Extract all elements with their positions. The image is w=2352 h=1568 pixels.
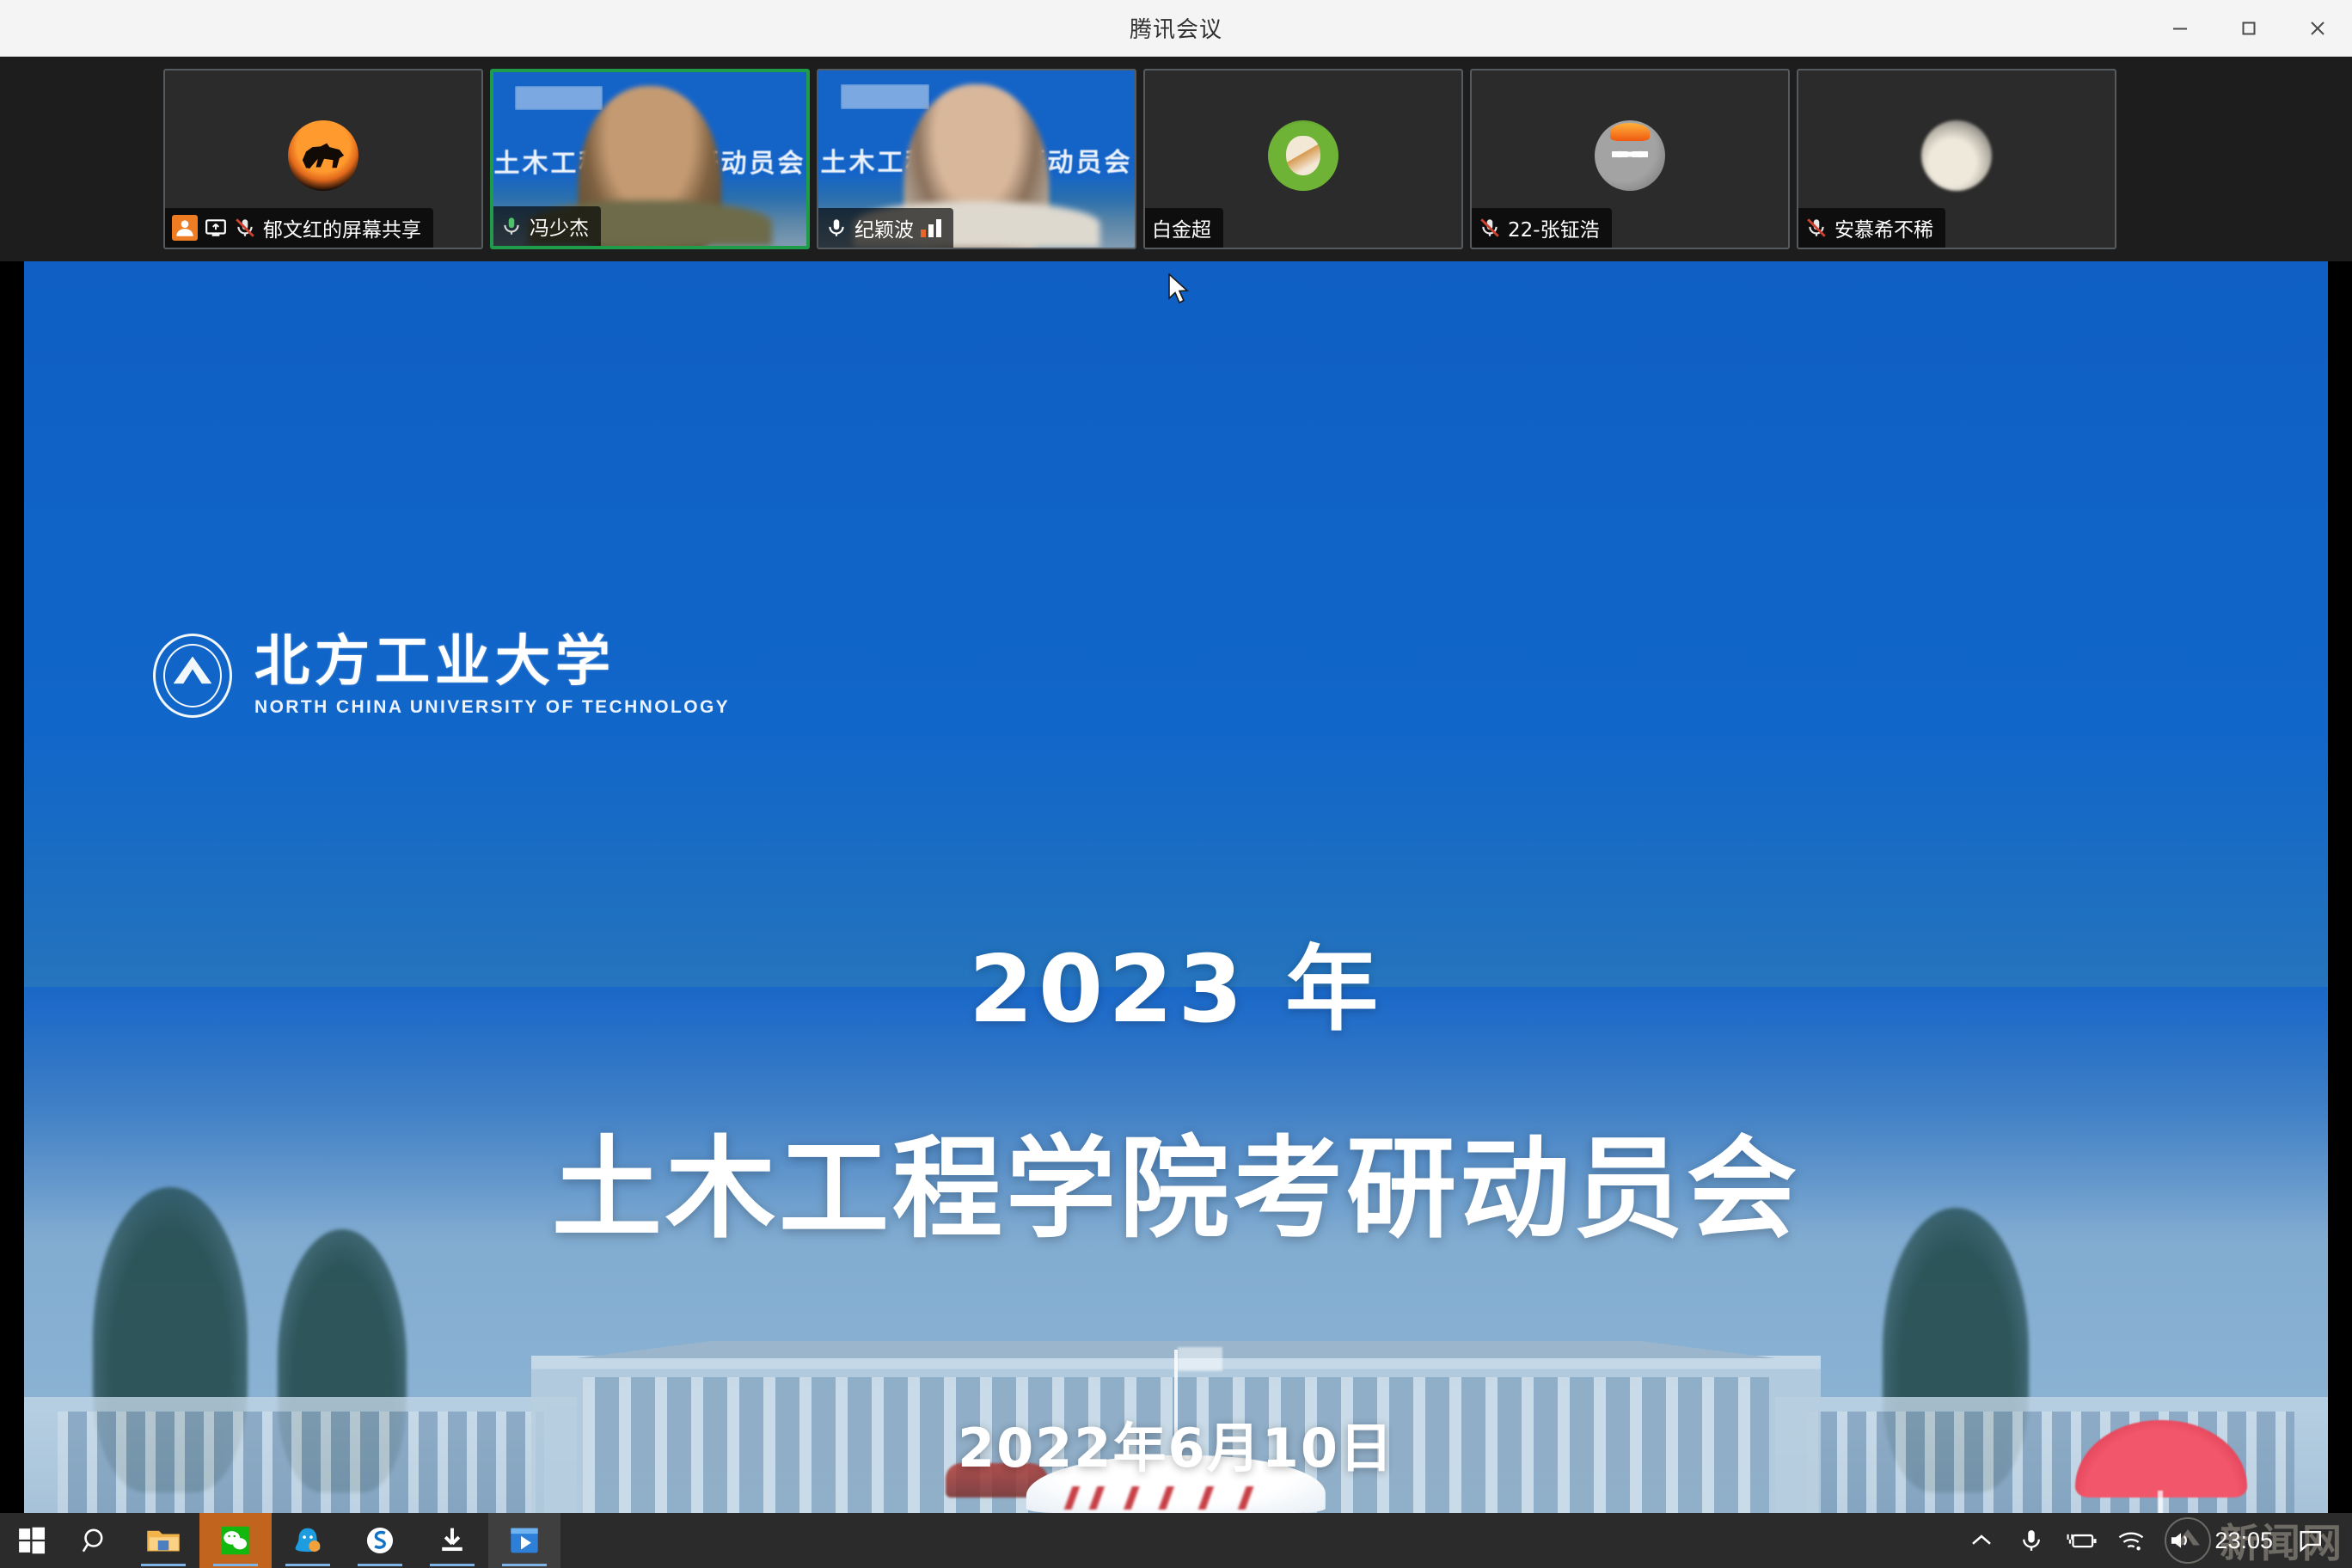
taskbar-items <box>0 1513 560 1568</box>
slide-title: 土木工程学院考研动员会 <box>24 1099 2328 1259</box>
participant-name: 22-张钲浩 <box>1508 213 1600 242</box>
corgi-dog-avatar <box>1268 120 1338 191</box>
microphone-muted-icon <box>1805 217 1828 239</box>
participant-filmstrip[interactable]: 郁文红的屏幕共享 土木工程学院考研动员会 冯少杰 <box>0 57 2352 261</box>
screen: 腾讯会议 <box>0 0 2352 1568</box>
participant-name: 郁文红的屏幕共享 <box>263 213 421 242</box>
network-signal-icon <box>921 218 941 237</box>
media-player-button[interactable] <box>488 1513 560 1568</box>
slide-date: 2022年6月10日 <box>24 1405 2328 1482</box>
battery-charging-icon[interactable] <box>2056 1513 2106 1568</box>
tile-label: 22-张钲浩 <box>1472 208 1612 248</box>
tile-label: 安慕希不稀 <box>1798 208 1945 248</box>
letterbox-left <box>0 261 24 1513</box>
system-tray: 23:05 <box>1957 1513 2352 1568</box>
clock[interactable]: 23:05 <box>2206 1528 2287 1554</box>
download-manager-button[interactable] <box>416 1513 488 1568</box>
university-logo: 北方工业大学 NORTH CHINA UNIVERSITY OF TECHNOL… <box>153 633 730 718</box>
participant-tile-avatar[interactable]: 安慕希不稀 <box>1797 69 2116 249</box>
close-button[interactable] <box>2283 0 2352 57</box>
qq-button[interactable] <box>272 1513 344 1568</box>
participant-name: 冯少杰 <box>530 211 589 241</box>
sogou-button[interactable] <box>344 1513 416 1568</box>
wechat-button[interactable] <box>199 1513 272 1568</box>
window-title: 腾讯会议 <box>1130 12 1222 44</box>
shared-screen-area[interactable]: 北方工业大学 NORTH CHINA UNIVERSITY OF TECHNOL… <box>24 261 2328 1513</box>
tile-label: 冯少杰 <box>493 206 601 246</box>
letterbox-right <box>2328 261 2352 1513</box>
window-titlebar: 腾讯会议 <box>0 0 2352 57</box>
microphone-icon <box>825 217 848 239</box>
notification-icon[interactable] <box>2287 1513 2337 1568</box>
photo-avatar <box>1921 120 1992 191</box>
tile-label: 郁文红的屏幕共享 <box>165 208 433 248</box>
microphone-icon[interactable] <box>2006 1513 2056 1568</box>
microphone-muted-icon <box>1479 217 1501 239</box>
slide-logo-blur <box>841 84 929 109</box>
windows-taskbar[interactable]: 23:05 新闻网 <box>0 1513 2352 1568</box>
participant-name: 纪颖波 <box>854 213 914 242</box>
window-controls <box>2146 0 2352 57</box>
wifi-icon[interactable] <box>2106 1513 2156 1568</box>
participant-tile-active-speaker[interactable]: 土木工程学院考研动员会 冯少杰 <box>490 69 810 249</box>
tile-label: 白金超 <box>1145 208 1223 248</box>
university-name-en: NORTH CHINA UNIVERSITY OF TECHNOLOGY <box>254 697 730 718</box>
host-badge-icon <box>172 215 198 241</box>
university-name-cn: 北方工业大学 <box>254 633 730 690</box>
start-button[interactable] <box>0 1513 64 1568</box>
participant-tile-video[interactable]: 土木工程学院考研动员会 纪颖波 <box>817 69 1136 249</box>
microphone-active-icon <box>500 215 523 237</box>
slide-logo-blur <box>515 86 603 110</box>
maximize-button[interactable] <box>2214 0 2283 57</box>
participant-name: 安慕希不稀 <box>1834 213 1933 242</box>
participant-name: 白金超 <box>1152 213 1211 242</box>
file-explorer-button[interactable] <box>127 1513 199 1568</box>
tile-label: 纪颖波 <box>818 208 953 248</box>
participant-tile-screenshare[interactable]: 郁文红的屏幕共享 <box>163 69 483 249</box>
horse-avatar <box>288 120 358 191</box>
participant-tile-avatar[interactable]: 白金超 <box>1143 69 1463 249</box>
angry-rock-avatar <box>1595 120 1665 191</box>
monument-calligraphy <box>1057 1486 1296 1510</box>
slide-year: 2023 年 <box>24 915 2328 1049</box>
slide-background <box>24 261 2328 1513</box>
flag <box>1178 1347 1222 1371</box>
volume-icon[interactable] <box>2156 1513 2206 1568</box>
microphone-muted-icon <box>234 217 256 239</box>
show-hidden-icons-button[interactable] <box>1957 1513 2006 1568</box>
search-button[interactable] <box>64 1513 127 1568</box>
university-seal-icon <box>153 634 232 718</box>
screen-share-icon <box>205 217 227 239</box>
mouse-cursor <box>1167 273 1191 306</box>
minimize-button[interactable] <box>2146 0 2214 57</box>
participant-tile-avatar[interactable]: 22-张钲浩 <box>1470 69 1790 249</box>
